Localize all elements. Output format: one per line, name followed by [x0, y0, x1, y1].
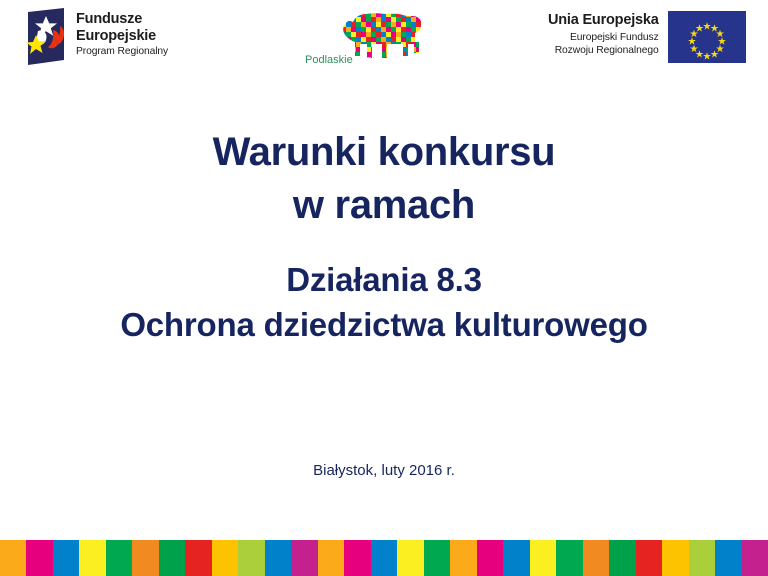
- decorative-colour-stripe-bar: [0, 540, 768, 576]
- fundusze-europejskie-logo: Fundusze Europejskie Program Regionalny: [22, 8, 168, 66]
- podlaskie-label: Podlaskie: [305, 54, 353, 66]
- colour-stripe: [397, 540, 423, 576]
- eu-wordmark: Unia Europejska Europejski Fundusz Rozwo…: [548, 11, 659, 57]
- eu-line-1: Unia Europejska: [548, 12, 659, 29]
- colour-stripe: [530, 540, 556, 576]
- fundusze-europejskie-mark-icon: [22, 8, 68, 66]
- colour-stripe: [318, 540, 344, 576]
- colour-stripe: [636, 540, 662, 576]
- main-title-line-1: Warunki konkursu: [0, 126, 768, 179]
- colour-stripe: [662, 540, 688, 576]
- colour-stripe: [26, 540, 52, 576]
- colour-stripe: [609, 540, 635, 576]
- colour-stripe: [106, 540, 132, 576]
- main-title-line-2: w ramach: [0, 179, 768, 232]
- fe-line-1: Fundusze: [76, 11, 168, 28]
- colour-stripe: [159, 540, 185, 576]
- european-union-flag-icon: [668, 11, 746, 63]
- podlaskie-logo: Podlaskie: [305, 8, 430, 78]
- colour-stripe: [291, 540, 317, 576]
- colour-stripe: [371, 540, 397, 576]
- colour-stripe: [556, 540, 582, 576]
- presentation-slide: Fundusze Europejskie Program Regionalny: [0, 0, 768, 576]
- colour-stripe: [477, 540, 503, 576]
- colour-stripe: [212, 540, 238, 576]
- slide-subtitle: Działania 8.3 Ochrona dziedzictwa kultur…: [0, 258, 768, 347]
- logo-header-bar: Fundusze Europejskie Program Regionalny: [0, 0, 768, 92]
- colour-stripe: [689, 540, 715, 576]
- eu-line-3: Rozwoju Regionalnego: [548, 45, 659, 57]
- subtitle-line-2: Ochrona dziedzictwa kulturowego: [0, 303, 768, 348]
- colour-stripe: [424, 540, 450, 576]
- colour-stripe: [238, 540, 264, 576]
- slide-main-title: Warunki konkursu w ramach: [0, 126, 768, 232]
- colour-stripe: [715, 540, 741, 576]
- colour-stripe: [0, 540, 26, 576]
- colour-stripe: [344, 540, 370, 576]
- eu-line-2: Europejski Fundusz: [548, 32, 659, 44]
- colour-stripe: [132, 540, 158, 576]
- unia-europejska-logo: Unia Europejska Europejski Fundusz Rozwo…: [548, 11, 746, 63]
- colour-stripe: [79, 540, 105, 576]
- fe-line-3: Program Regionalny: [76, 46, 168, 58]
- colour-stripe: [583, 540, 609, 576]
- colour-stripe: [265, 540, 291, 576]
- subtitle-line-1: Działania 8.3: [0, 258, 768, 303]
- colour-stripe: [53, 540, 79, 576]
- colour-stripe: [185, 540, 211, 576]
- slide-place-and-date: Białystok, luty 2016 r.: [0, 462, 768, 479]
- fe-line-2: Europejskie: [76, 28, 168, 45]
- colour-stripe: [503, 540, 529, 576]
- fundusze-europejskie-wordmark: Fundusze Europejskie Program Regionalny: [76, 8, 168, 58]
- colour-stripe: [450, 540, 476, 576]
- colour-stripe: [742, 540, 768, 576]
